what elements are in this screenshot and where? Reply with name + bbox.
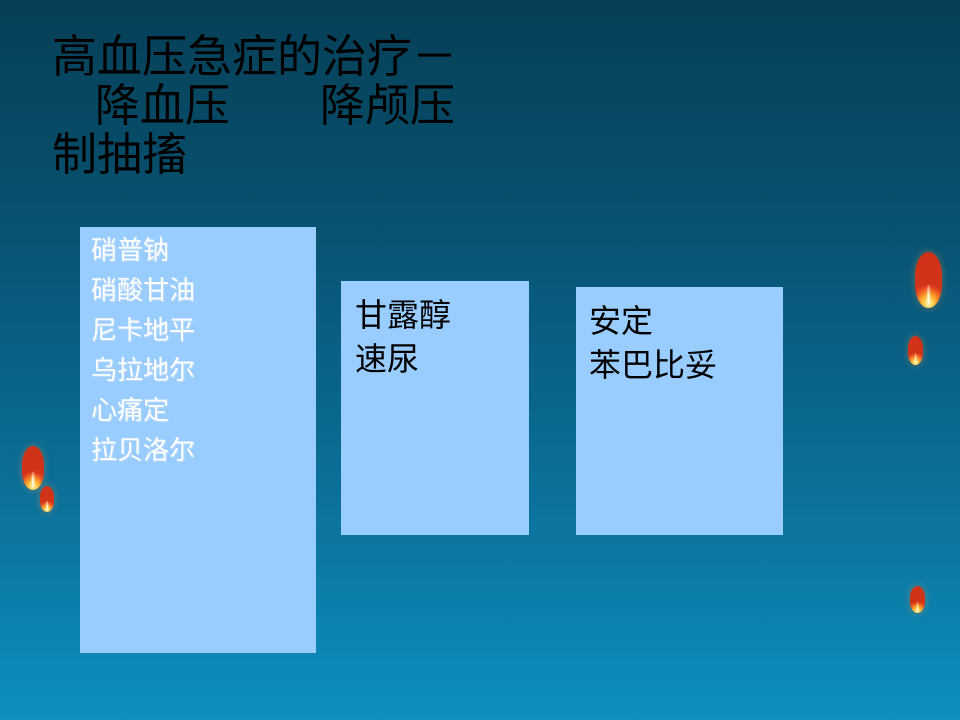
- content-box-anticonvulsant-drugs[interactable]: 安定 苯巴比妥: [576, 287, 783, 535]
- anticonvulsant-drug-list: 安定 苯巴比妥: [589, 299, 779, 387]
- content-box-antihypertensive-drugs[interactable]: 硝普钠 硝酸甘油 尼卡地平 乌拉地尔 心痛定 拉贝洛尔: [80, 227, 316, 653]
- intracranial-pressure-drug-list: 甘露醇 速尿: [355, 293, 525, 381]
- content-box-intracranial-pressure-drugs[interactable]: 甘露醇 速尿: [341, 281, 529, 535]
- flame-icon: [910, 586, 925, 613]
- antihypertensive-drug-list: 硝普钠 硝酸甘油 尼卡地平 乌拉地尔 心痛定 拉贝洛尔: [91, 231, 312, 471]
- flame-icon: [915, 252, 942, 308]
- flame-icon: [40, 486, 54, 512]
- flame-icon: [908, 336, 923, 365]
- flame-icon: [22, 446, 44, 490]
- slide-title: 高血压急症的治疗－ 降血压 降颅压 制抽搐: [52, 32, 912, 179]
- slide-canvas: 高血压急症的治疗－ 降血压 降颅压 制抽搐 硝普钠 硝酸甘油 尼卡地平 乌拉地尔…: [0, 0, 960, 720]
